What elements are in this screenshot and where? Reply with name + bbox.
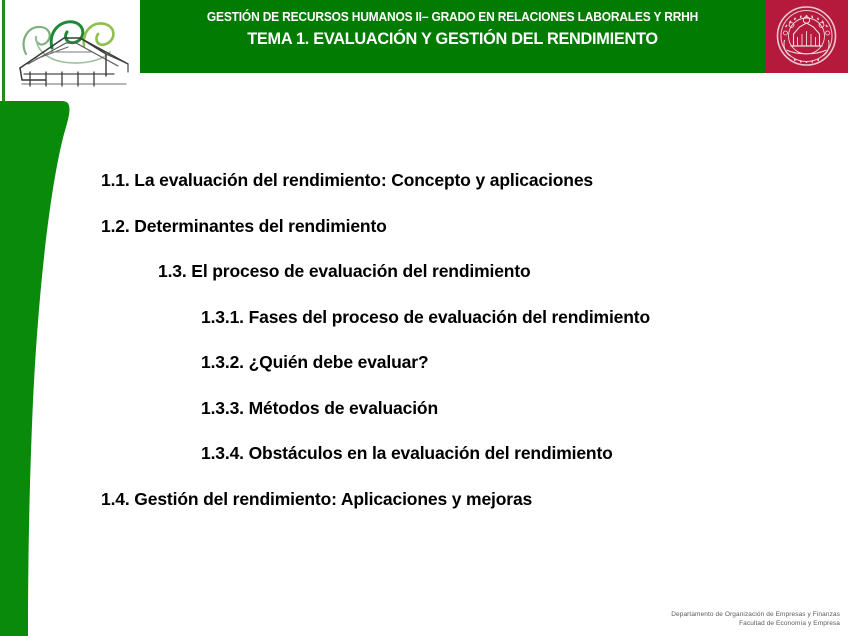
slide-footer: Departamento de Organización de Empresas… <box>671 610 840 628</box>
left-edge-rule <box>2 0 5 101</box>
outline-item: 1.3.3. Métodos de evaluación <box>201 398 848 418</box>
university-seal-band <box>765 0 848 73</box>
outline-item: 1.1. La evaluación del rendimiento: Conc… <box>101 170 848 190</box>
outline-item: 1.3. El proceso de evaluación del rendim… <box>158 261 848 281</box>
slide-header: GESTIÓN DE RECURSOS HUMANOS II– GRADO EN… <box>0 0 848 73</box>
outline-item: 1.2. Determinantes del rendimiento <box>101 216 848 236</box>
outline-item: 1.3.2. ¿Quién debe evaluar? <box>201 352 848 372</box>
outline-item: 1.3.4. Obstáculos en la evaluación del r… <box>201 443 848 463</box>
footer-faculty: Facultad de Economía y Empresa <box>671 619 840 628</box>
outline-item: 1.3.1. Fases del proceso de evaluación d… <box>201 307 848 327</box>
faculty-building-logo <box>6 2 139 97</box>
topic-title: TEMA 1. EVALUACIÓN Y GESTIÓN DEL RENDIMI… <box>153 28 753 50</box>
header-title-band: GESTIÓN DE RECURSOS HUMANOS II– GRADO EN… <box>140 0 765 73</box>
header-title-lines: GESTIÓN DE RECURSOS HUMANOS II– GRADO EN… <box>140 10 765 50</box>
outline-item: 1.4. Gestión del rendimiento: Aplicacion… <box>101 489 848 509</box>
course-title: GESTIÓN DE RECURSOS HUMANOS II– GRADO EN… <box>153 10 753 25</box>
slide-canvas: GESTIÓN DE RECURSOS HUMANOS II– GRADO EN… <box>0 0 848 636</box>
footer-department: Departamento de Organización de Empresas… <box>671 610 840 619</box>
topic-outline-list: 1.1. La evaluación del rendimiento: Conc… <box>0 170 848 534</box>
university-seal <box>765 0 848 73</box>
